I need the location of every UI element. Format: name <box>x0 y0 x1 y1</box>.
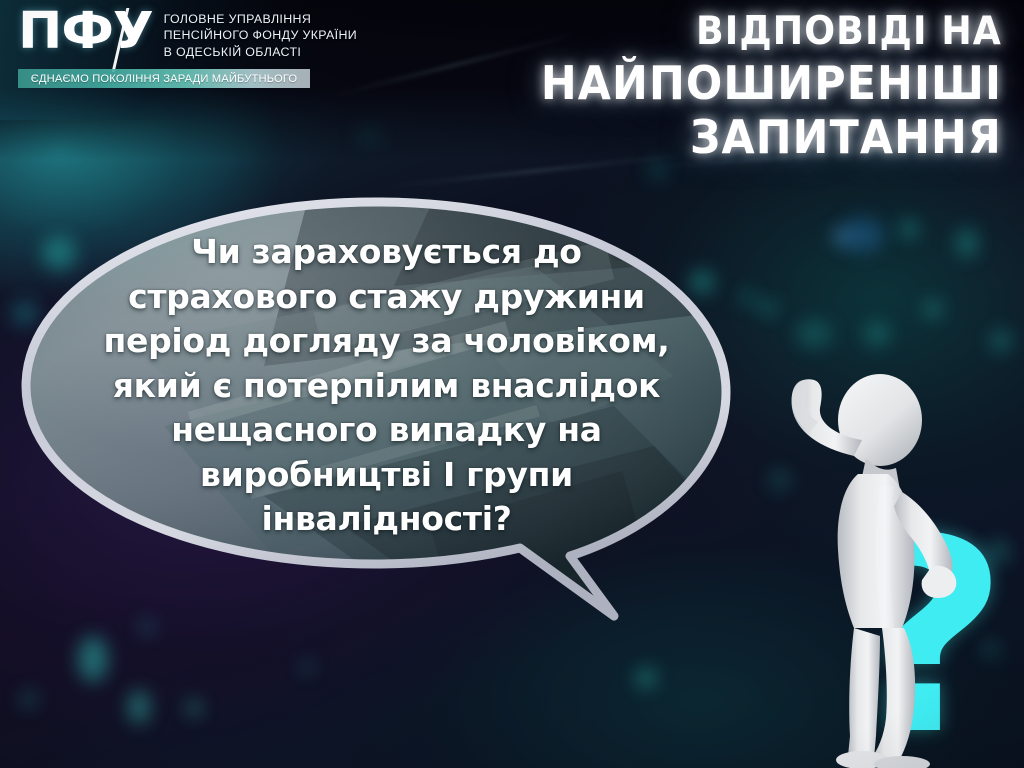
poster-canvas: ПФУ ГОЛОВНЕ УПРАВЛІННЯ ПЕНСІЙНОГО ФОНДУ … <box>0 0 1024 768</box>
headline-line-2: НАЙПОШИРЕНІШІ ЗАПИТАННЯ <box>351 56 1002 164</box>
question-text: Чи зараховується до страхового стажу дру… <box>74 230 699 542</box>
tagline-text: ЄДНАЄМО ПОКОЛІННЯ ЗАРАДИ МАЙБУТНЬОГО <box>31 73 298 85</box>
illustration-layer: ? <box>762 336 1024 768</box>
tagline-banner: ЄДНАЄМО ПОКОЛІННЯ ЗАРАДИ МАЙБУТНЬОГО <box>18 69 310 88</box>
pfu-logo-mark: ПФУ <box>18 6 153 56</box>
poster-headline: ВІДПОВІДІ НА НАЙПОШИРЕНІШІ ЗАПИТАННЯ <box>302 8 1002 164</box>
thinking-person-3d-figure <box>762 336 1024 768</box>
headline-line-1: ВІДПОВІДІ НА <box>351 8 1002 56</box>
question-speech-bubble: Чи зараховується до страхового стажу дру… <box>14 196 754 626</box>
